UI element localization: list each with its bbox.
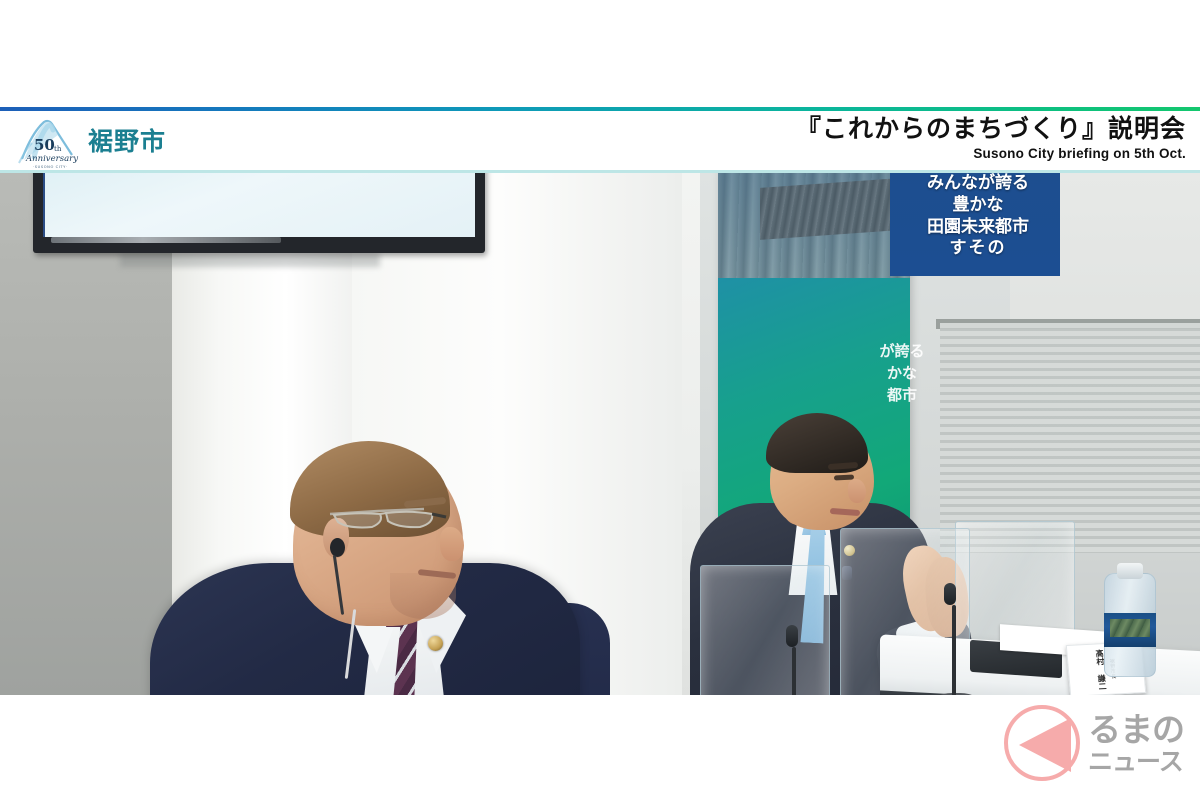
- watermark-line-1: るまの: [1088, 713, 1184, 746]
- watermark-line-2: ニュース: [1088, 749, 1184, 774]
- banner-inner-line-1: が誇る: [872, 341, 932, 363]
- header-title-group: 『これからのまちづくり』説明会 Susono City briefing on …: [796, 115, 1186, 161]
- window-blinds: [940, 323, 1200, 553]
- water-bottle-rear-cap: [1117, 563, 1143, 579]
- desk-microphone-rear-head: [944, 583, 956, 605]
- svg-text:th: th: [54, 145, 62, 153]
- banner-line-4: すその: [894, 238, 1062, 260]
- eyeglasses-svg: [328, 505, 462, 535]
- watermark-text: るまの ニュース: [1088, 713, 1184, 774]
- kuruma-chevron-icon: [1004, 705, 1080, 781]
- display-panel: [43, 173, 475, 237]
- banner-line-1: みんなが誇る: [894, 173, 1062, 195]
- city-name-label: 裾野市: [88, 122, 166, 158]
- desk-microphone-center-head: [786, 625, 798, 647]
- anniversary-logo-svg: 50 th Anniversary ·SUSONO CITY·: [14, 113, 84, 171]
- banner-inner-line-3: 都市: [872, 385, 932, 407]
- flat-screen-display: [33, 173, 485, 253]
- page-title: 『これからのまちづくり』説明会: [796, 115, 1186, 144]
- eyeglasses-icon: [328, 505, 462, 535]
- conference-photo: が誇る かな 都市 みんなが誇る 豊かな 田園未来都市 すその: [0, 173, 1200, 695]
- left-speaker-chin-shadow: [390, 573, 456, 619]
- chevron-left-icon: [1019, 718, 1071, 772]
- right-speaker-nose: [848, 479, 866, 503]
- desk-microphone-center-stem: [792, 647, 796, 695]
- page-header: 50 th Anniversary ·SUSONO CITY· 裾野市 『これか…: [0, 107, 1200, 173]
- city-banner-photo-roof: [760, 178, 900, 240]
- water-bottle-rear-label-photo: [1110, 619, 1150, 637]
- svg-text:50: 50: [34, 136, 55, 154]
- svg-text:·SUSONO CITY·: ·SUSONO CITY·: [33, 165, 68, 169]
- kuruma-no-news-logo: るまの ニュース: [1004, 700, 1190, 786]
- desk-microphone-rear-stem: [952, 605, 956, 695]
- earpiece-icon: [330, 538, 345, 557]
- mount-fuji-50th-anniversary-logo: 50 th Anniversary ·SUSONO CITY·: [14, 113, 84, 171]
- display-stand-bar: [51, 237, 281, 243]
- header-inner: 50 th Anniversary ·SUSONO CITY· 裾野市 『これか…: [0, 111, 1200, 173]
- display-shadow: [120, 253, 380, 267]
- banner-line-2: 豊かな: [894, 195, 1062, 217]
- city-banner-headline: みんなが誇る 豊かな 田園未来都市 すその: [894, 173, 1062, 260]
- banner-line-3: 田園未来都市: [894, 217, 1062, 239]
- banner-inner-line-2: かな: [872, 363, 932, 385]
- left-speaker-lapel-pin: [428, 636, 443, 651]
- page-subtitle: Susono City briefing on 5th Oct.: [796, 146, 1186, 161]
- screenshot-root: 50 th Anniversary ·SUSONO CITY· 裾野市 『これか…: [0, 0, 1200, 800]
- acrylic-partition-front: [700, 565, 830, 695]
- city-banner-inner-text: が誇る かな 都市: [872, 341, 932, 406]
- svg-text:Anniversary: Anniversary: [25, 154, 78, 164]
